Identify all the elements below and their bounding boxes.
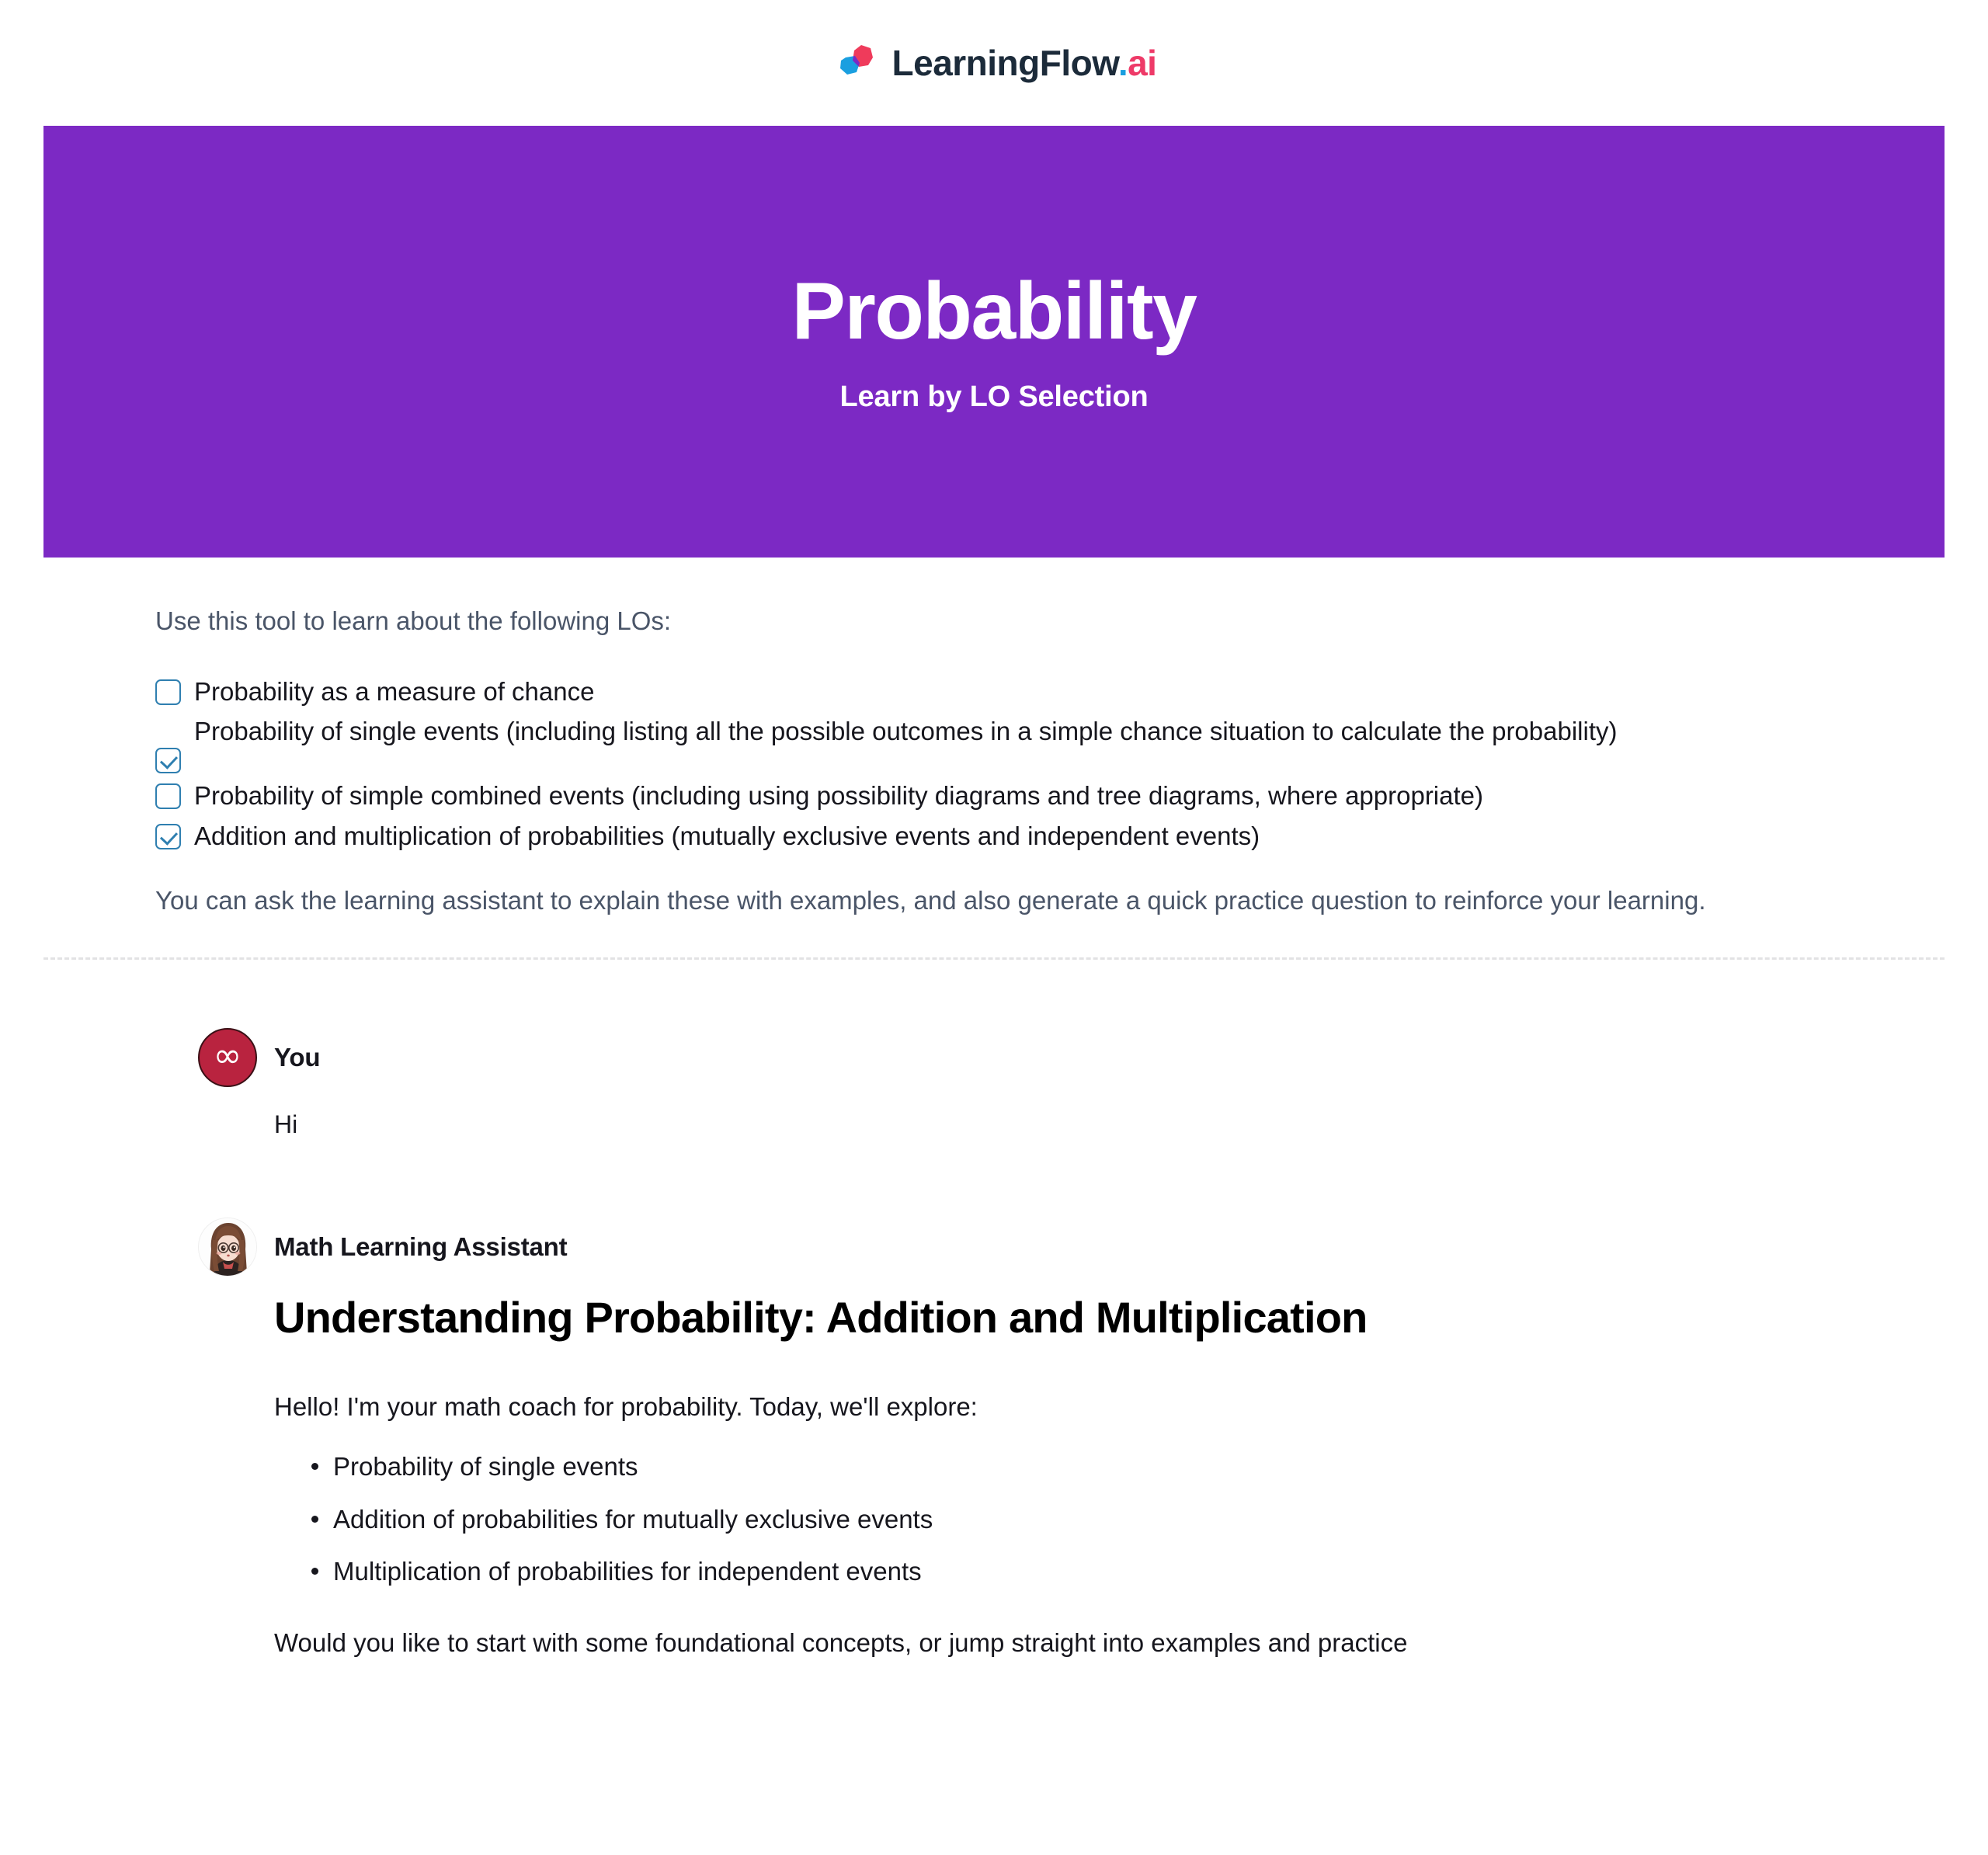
- brand-name-dot: .: [1118, 43, 1128, 83]
- lo-label-0: Probability as a measure of chance: [194, 674, 594, 710]
- chat-author-assistant: Math Learning Assistant: [274, 1232, 567, 1262]
- chat-text-user: Hi: [274, 1106, 1945, 1143]
- assistant-heading: Understanding Probability: Addition and …: [274, 1294, 1750, 1343]
- chat-message-assistant-header: Math Learning Assistant: [198, 1218, 1945, 1277]
- brand-logo[interactable]: LearningFlow.ai: [832, 39, 1157, 87]
- lo-checkbox-3[interactable]: [155, 824, 181, 849]
- lo-checkbox-2[interactable]: [155, 783, 181, 809]
- lo-checkbox-0[interactable]: [155, 679, 181, 705]
- brand-name: LearningFlow.ai: [892, 45, 1157, 81]
- assistant-closing: Would you like to start with some founda…: [274, 1624, 1945, 1662]
- chat-message-user: ∞ You Hi: [198, 1028, 1945, 1143]
- chat-thread: ∞ You Hi: [0, 1028, 1988, 1662]
- page-banner: Probability Learn by LO Selection: [43, 126, 1945, 558]
- assistant-bullet-2: Multiplication of probabilities for inde…: [311, 1554, 1945, 1589]
- brand-name-main: LearningFlow: [892, 43, 1118, 83]
- assistant-intro: Hello! I'm your math coach for probabili…: [274, 1388, 1945, 1426]
- infinity-glyph: ∞: [214, 1039, 242, 1073]
- lo-item-0[interactable]: Probability as a measure of chance: [155, 674, 1945, 710]
- logo-blobs-icon: [832, 39, 880, 87]
- chat-message-assistant: Math Learning Assistant Understanding Pr…: [198, 1218, 1945, 1662]
- assistant-bullet-1: Addition of probabilities for mutually e…: [311, 1502, 1945, 1537]
- lo-label-3: Addition and multiplication of probabili…: [194, 818, 1260, 854]
- chat-author-user: You: [274, 1043, 320, 1072]
- lo-item-3[interactable]: Addition and multiplication of probabili…: [155, 818, 1945, 854]
- lo-item-2[interactable]: Probability of simple combined events (i…: [155, 778, 1945, 814]
- section-divider: [43, 957, 1945, 960]
- infinity-avatar-icon: ∞: [198, 1028, 257, 1087]
- page-title: Probability: [792, 269, 1197, 354]
- anime-girl-avatar-icon: [198, 1218, 257, 1277]
- chat-body-user: Hi: [198, 1106, 1945, 1143]
- page-subtitle: Learn by LO Selection: [839, 380, 1148, 414]
- chat-body-assistant: Understanding Probability: Addition and …: [198, 1294, 1945, 1662]
- lo-label-2: Probability of simple combined events (i…: [194, 778, 1483, 814]
- assistant-bullet-0: Probability of single events: [311, 1449, 1945, 1485]
- lo-checkbox-1[interactable]: [155, 748, 181, 773]
- brand-name-suffix: ai: [1128, 43, 1156, 83]
- intro-heading: Use this tool to learn about the followi…: [155, 602, 1817, 641]
- learning-objectives-list: Probability as a measure of chance Proba…: [155, 674, 1945, 854]
- intro-outro: You can ask the learning assistant to ex…: [155, 881, 1802, 920]
- lo-section: Use this tool to learn about the followi…: [0, 602, 1988, 920]
- assistant-bullet-list: Probability of single events Addition of…: [274, 1449, 1945, 1589]
- app-header: LearningFlow.ai: [0, 0, 1988, 126]
- chat-message-user-header: ∞ You: [198, 1028, 1945, 1087]
- lo-label-1: Probability of single events (including …: [194, 714, 1618, 749]
- lo-item-1[interactable]: Probability of single events (including …: [155, 714, 1945, 773]
